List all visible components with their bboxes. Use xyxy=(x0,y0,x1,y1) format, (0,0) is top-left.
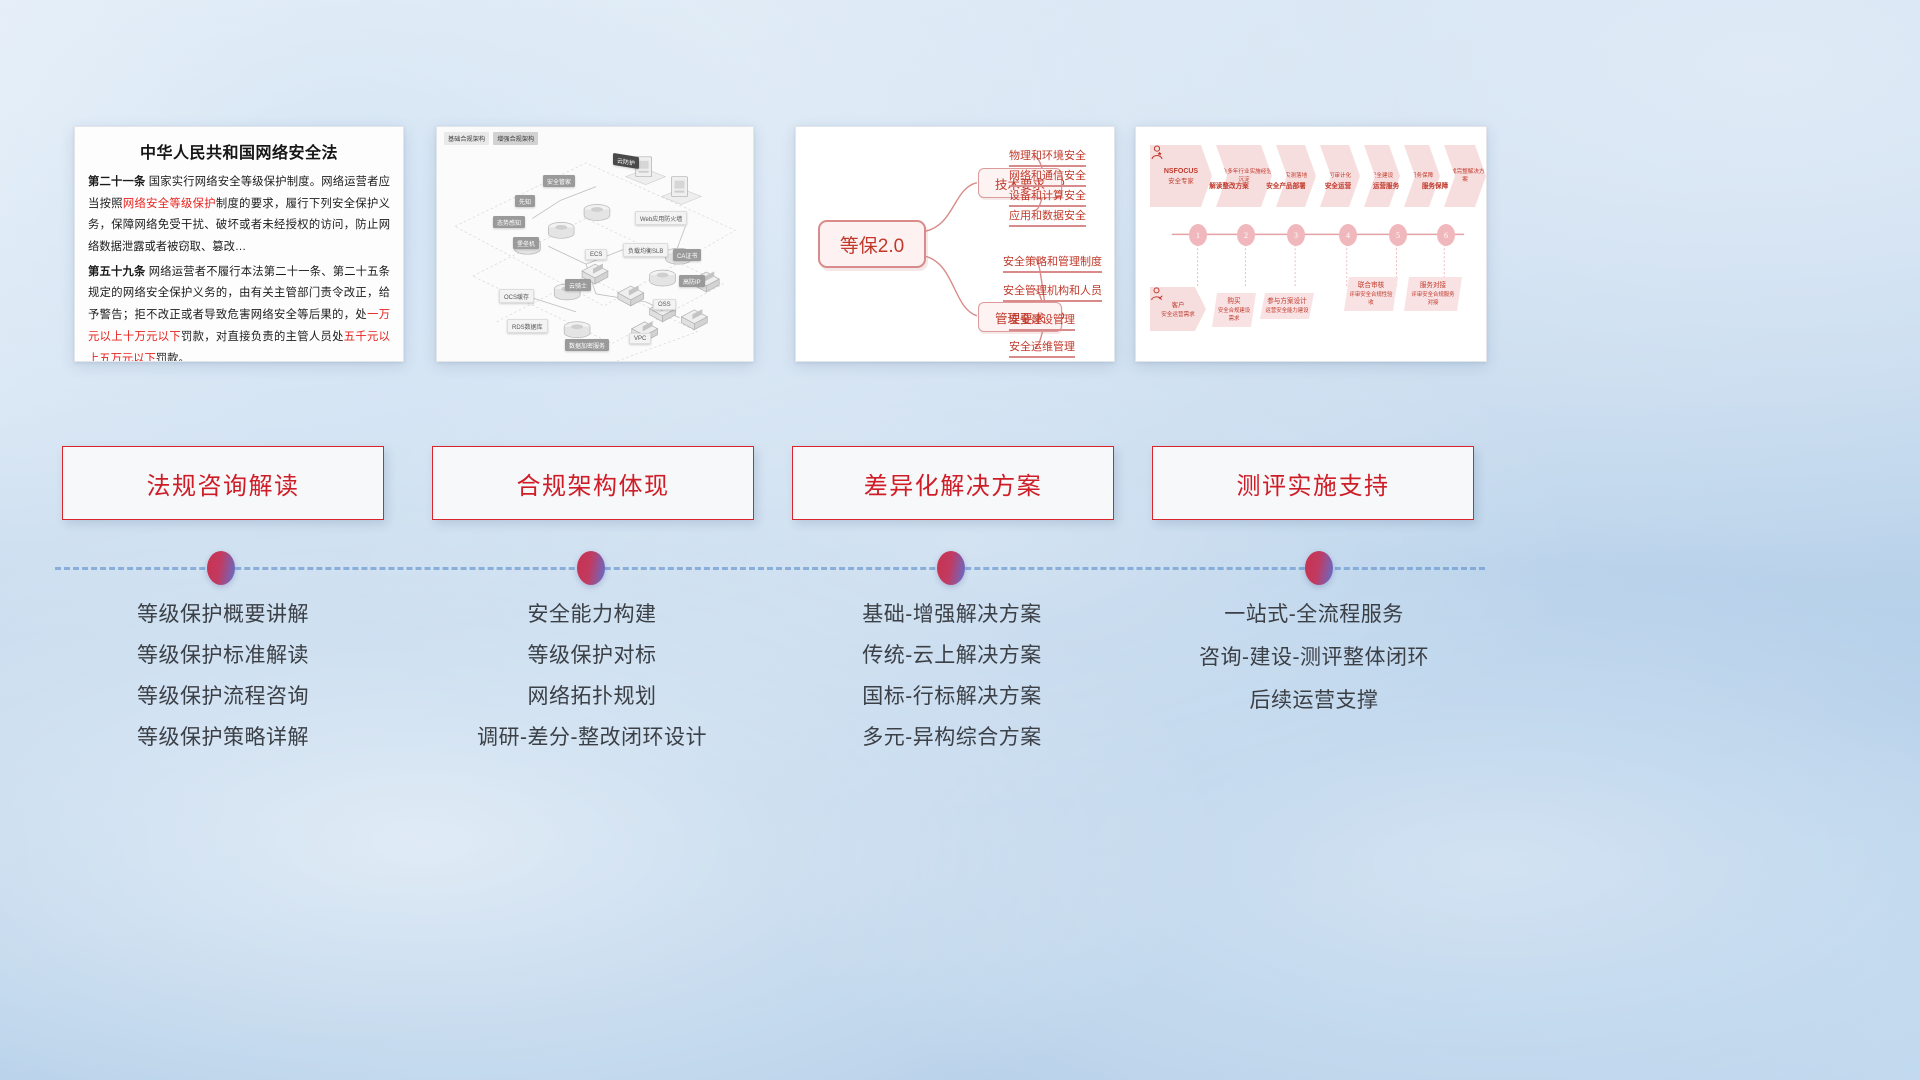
detail-column-2: 基础-增强解决方案 传统-云上解决方案 国标-行标解决方案 多元-异构综合方案 xyxy=(782,604,1122,768)
title-box-regulation-consulting[interactable]: 法规咨询解读 xyxy=(62,446,384,520)
nsfocus-step-6: 6 xyxy=(1437,224,1455,246)
list-item: 等级保护概要讲解 xyxy=(137,604,309,625)
nsfocus-step-2: 2 xyxy=(1237,224,1255,246)
timeline-dot-3 xyxy=(937,551,965,585)
law-article-21-highlight: 网络安全等级保护 xyxy=(123,198,216,210)
mindmap-canvas: 等保2.0 技术要求 管理要求 物理和环境安全 网络和通信安全 设备和计算安全 … xyxy=(796,127,1114,361)
node-label-rds: RDS数据库 xyxy=(507,319,548,333)
list-item: 等级保护流程咨询 xyxy=(137,686,309,707)
node-label-ecs: ECS xyxy=(585,249,607,260)
mindmap-leaf-physical-env: 物理和环境安全 xyxy=(1009,147,1086,167)
title-box-compliance-architecture[interactable]: 合规架构体现 xyxy=(432,446,754,520)
card-nsfocus-timeline[interactable]: NSFOCUS 安全专家 综合多年行业实施经验沉淀 实测落地 可审计化 安全建设… xyxy=(1135,126,1487,362)
node-label-bastion-host: 堡垒机 xyxy=(513,237,539,249)
list-item: 咨询-建设-测评整体闭环 xyxy=(1199,647,1429,668)
node-label-vpc: VPC xyxy=(629,333,651,344)
nsfocus-bottom-left-0: 购买 安全合规建设需求 xyxy=(1212,293,1256,327)
detail-list-row: 等级保护概要讲解 等级保护标准解读 等级保护流程咨询 等级保护策略详解 安全能力… xyxy=(0,604,1920,804)
title-label-1: 合规架构体现 xyxy=(517,466,670,501)
nsfocus-bottom-right-0: 联合审核 评审安全合规性验收 xyxy=(1344,277,1398,311)
title-label-2: 差异化解决方案 xyxy=(864,466,1043,501)
card-mindmap[interactable]: 等保2.0 技术要求 管理要求 物理和环境安全 网络和通信安全 设备和计算安全 … xyxy=(795,126,1115,362)
section-title-row: 法规咨询解读 合规架构体现 差异化解决方案 测评实施支持 xyxy=(0,446,1920,520)
list-item: 调研-差分-整改闭环设计 xyxy=(477,727,707,748)
node-label-situational-awareness: 态势感知 xyxy=(493,216,525,228)
timeline xyxy=(0,540,1920,600)
list-item: 传统-云上解决方案 xyxy=(862,645,1042,666)
customer-person-icon xyxy=(1150,287,1163,301)
list-item: 安全能力构建 xyxy=(528,604,657,625)
mindmap-leaf-app-data: 应用和数据安全 xyxy=(1009,207,1086,227)
detail-column-1: 安全能力构建 等级保护对标 网络拓扑规划 调研-差分-整改闭环设计 xyxy=(422,604,762,768)
list-item: 等级保护标准解读 xyxy=(137,645,309,666)
law-content: 中华人民共和国网络安全法 第二十一条 国家实行网络安全等级保护制度。网络运营者应… xyxy=(75,127,403,362)
mindmap-root: 等保2.0 xyxy=(818,220,926,268)
nsfocus-customer-sub: 安全运营需求 xyxy=(1161,311,1195,319)
card-architecture-diagram[interactable]: 基础合规架构 增强合规架构 xyxy=(436,126,754,362)
mindmap-leaf-org-personnel: 安全管理机构和人员 xyxy=(1003,282,1102,302)
nsfocus-step-5: 5 xyxy=(1389,224,1407,246)
mindmap-leaf-policy-system: 安全策略和管理制度 xyxy=(1003,253,1102,273)
card-law-text[interactable]: 中华人民共和国网络安全法 第二十一条 国家实行网络安全等级保护制度。网络运营者应… xyxy=(74,126,404,362)
nsfocus-bottom-right-1: 服务对接 评审安全合规服务对接 xyxy=(1404,277,1462,311)
title-box-differentiated-solution[interactable]: 差异化解决方案 xyxy=(792,446,1114,520)
timeline-dot-1 xyxy=(207,551,235,585)
list-item: 网络拓扑规划 xyxy=(528,686,657,707)
list-item: 多元-异构综合方案 xyxy=(862,727,1042,748)
law-title: 中华人民共和国网络安全法 xyxy=(88,139,390,163)
node-label-oss: OSS xyxy=(653,299,676,310)
mindmap-leaf-ops-mgmt: 安全运维管理 xyxy=(1009,338,1075,358)
title-box-assessment-support[interactable]: 测评实施支持 xyxy=(1152,446,1474,520)
preview-card-row: 中华人民共和国网络安全法 第二十一条 国家实行网络安全等级保护制度。网络运营者应… xyxy=(0,126,1920,362)
timeline-dot-4 xyxy=(1305,551,1333,585)
nsfocus-customer-chevron: 客户 安全运营需求 xyxy=(1150,287,1206,331)
law-article-59-text-mid: 罚款，对直接负责的主管人员处 xyxy=(181,331,344,343)
law-paragraph-21: 第二十一条 国家实行网络安全等级保护制度。网络运营者应当按照网络安全等级保护制度… xyxy=(88,172,390,259)
timeline-dashed-line xyxy=(55,567,1485,570)
node-label-waf: Web应用防火墙 xyxy=(635,211,687,225)
nsfocus-step-3: 3 xyxy=(1287,224,1305,246)
nsfocus-bottom-left-1: 参与方案设计 运营安全能力建设 xyxy=(1260,293,1314,319)
list-item: 一站式-全流程服务 xyxy=(1224,604,1404,625)
mindmap-leaf-network-comm: 网络和通信安全 xyxy=(1009,167,1086,187)
node-label-data-encryption: 数据加密服务 xyxy=(565,339,609,351)
architecture-nodes xyxy=(437,127,753,362)
node-label-anti-ddos: 高防IP xyxy=(679,275,705,287)
node-label-security-butler: 安全管家 xyxy=(543,175,575,187)
node-label-slb: 负载均衡SLB xyxy=(623,243,668,257)
mindmap-leaf-device-compute: 设备和计算安全 xyxy=(1009,187,1086,207)
nsfocus-step-1: 1 xyxy=(1189,224,1207,246)
list-item: 基础-增强解决方案 xyxy=(862,604,1042,625)
node-label-xianzhi: 先知 xyxy=(515,195,535,207)
law-paragraph-59: 第五十九条 网络运营者不履行本法第二十一条、第二十五条规定的网络安全保护义务的，… xyxy=(88,262,390,362)
mindmap-leaf-construction-mgmt: 安全建设管理 xyxy=(1009,311,1075,331)
law-article-21-label: 第二十一条 xyxy=(88,176,145,188)
timeline-dot-2 xyxy=(577,551,605,585)
title-label-0: 法规咨询解读 xyxy=(147,466,300,501)
list-item: 等级保护对标 xyxy=(528,645,657,666)
list-item: 国标-行标解决方案 xyxy=(862,686,1042,707)
nsfocus-step-4: 4 xyxy=(1339,224,1357,246)
detail-column-0: 等级保护概要讲解 等级保护标准解读 等级保护流程咨询 等级保护策略详解 xyxy=(53,604,393,768)
nsfocus-canvas: NSFOCUS 安全专家 综合多年行业实施经验沉淀 实测落地 可审计化 安全建设… xyxy=(1136,127,1486,361)
node-label-ca-cert: CA证书 xyxy=(673,249,701,261)
law-article-59-text-end: 罚款。 xyxy=(156,353,190,363)
nsfocus-customer-label: 客户 xyxy=(1172,301,1185,310)
law-article-59-label: 第五十九条 xyxy=(88,266,145,278)
list-item: 等级保护策略详解 xyxy=(137,727,309,748)
architecture-canvas: 基础合规架构 增强合规架构 xyxy=(437,127,753,361)
node-label-cloud-knight: 云骑士 xyxy=(565,279,591,291)
detail-column-3: 一站式-全流程服务 咨询-建设-测评整体闭环 后续运营支撑 xyxy=(1144,604,1484,733)
list-item: 后续运营支撑 xyxy=(1250,690,1379,711)
title-label-3: 测评实施支持 xyxy=(1237,466,1390,501)
node-label-ocs-cache: OCS缓存 xyxy=(499,289,534,303)
